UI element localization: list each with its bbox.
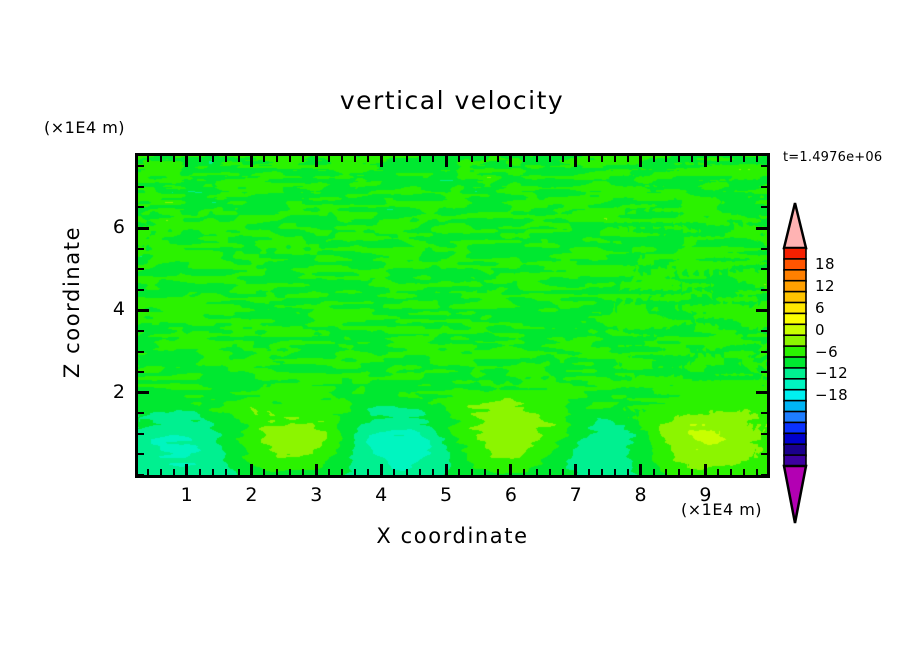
colorbar-band xyxy=(784,346,806,358)
x-tick-minor-top xyxy=(341,156,343,162)
y-tick-minor-right xyxy=(761,351,767,353)
x-tick-label: 6 xyxy=(491,484,531,506)
x-tick-minor xyxy=(588,469,590,475)
x-tick-label: 1 xyxy=(167,484,207,506)
colorbar-svg xyxy=(781,202,809,524)
y-tick-minor-right xyxy=(761,165,767,167)
y-axis-unit-label: (×1E4 m) xyxy=(44,118,125,137)
x-tick-minor xyxy=(173,469,175,475)
y-tick-minor xyxy=(138,433,144,435)
y-tick-minor-right xyxy=(761,186,767,188)
colorbar-band xyxy=(784,248,806,260)
x-tick-major xyxy=(574,464,577,475)
x-tick-minor-top xyxy=(588,156,590,162)
x-tick-minor-top xyxy=(276,156,278,162)
x-tick-minor-top xyxy=(665,156,667,162)
y-tick-minor-right xyxy=(761,412,767,414)
y-tick-label: 6 xyxy=(85,216,125,238)
x-tick-minor-top xyxy=(627,156,629,162)
colorbar-tick-label: 18 xyxy=(815,255,835,273)
x-tick-minor-top xyxy=(497,156,499,162)
x-tick-minor-top xyxy=(484,156,486,162)
x-tick-minor-top xyxy=(717,156,719,162)
x-tick-minor xyxy=(497,469,499,475)
y-tick-minor-right xyxy=(761,289,767,291)
x-tick-minor-top xyxy=(393,156,395,162)
colorbar-band xyxy=(784,422,806,434)
y-tick-minor-right xyxy=(761,371,767,373)
y-tick-minor xyxy=(138,165,144,167)
x-tick-minor-top xyxy=(730,156,732,162)
colorbar xyxy=(781,202,809,524)
x-tick-minor-top xyxy=(263,156,265,162)
y-tick-major-right xyxy=(756,227,767,230)
x-tick-minor xyxy=(393,469,395,475)
colorbar-band xyxy=(784,335,806,347)
x-tick-minor xyxy=(147,469,149,475)
x-tick-label: 3 xyxy=(296,484,336,506)
x-tick-major-top xyxy=(250,156,253,167)
x-tick-minor xyxy=(263,469,265,475)
x-tick-major-top xyxy=(315,156,318,167)
x-tick-minor-top xyxy=(160,156,162,162)
x-tick-major xyxy=(315,464,318,475)
colorbar-band xyxy=(784,259,806,271)
y-tick-minor xyxy=(138,268,144,270)
x-axis-title: X coordinate xyxy=(135,524,770,548)
x-tick-major-top xyxy=(445,156,448,167)
y-tick-minor xyxy=(138,206,144,208)
x-tick-major-top xyxy=(509,156,512,167)
x-tick-major xyxy=(509,464,512,475)
x-tick-minor xyxy=(199,469,201,475)
x-tick-minor-top xyxy=(458,156,460,162)
x-tick-minor xyxy=(238,469,240,475)
y-tick-minor xyxy=(138,248,144,250)
time-annotation: t=1.4976e+06 xyxy=(783,150,882,165)
x-tick-minor xyxy=(276,469,278,475)
x-tick-minor-top xyxy=(238,156,240,162)
x-tick-minor xyxy=(225,469,227,475)
colorbar-band xyxy=(784,292,806,304)
y-tick-minor-right xyxy=(761,268,767,270)
contour-plot-area xyxy=(135,153,770,478)
colorbar-under-cap xyxy=(784,466,806,523)
y-tick-minor xyxy=(138,330,144,332)
x-tick-minor-top xyxy=(406,156,408,162)
x-tick-minor-top xyxy=(536,156,538,162)
x-tick-minor xyxy=(756,469,758,475)
x-tick-minor xyxy=(471,469,473,475)
colorbar-band xyxy=(784,270,806,282)
x-tick-minor-top xyxy=(225,156,227,162)
x-tick-minor-top xyxy=(212,156,214,162)
x-tick-major-top xyxy=(639,156,642,167)
x-tick-major xyxy=(380,464,383,475)
x-tick-minor-top xyxy=(678,156,680,162)
colorbar-band xyxy=(784,379,806,391)
x-tick-minor-top xyxy=(328,156,330,162)
y-tick-minor-right xyxy=(761,330,767,332)
x-tick-major-top xyxy=(574,156,577,167)
y-tick-label: 4 xyxy=(85,298,125,320)
x-tick-minor-top xyxy=(653,156,655,162)
x-tick-minor xyxy=(341,469,343,475)
x-tick-label: 7 xyxy=(556,484,596,506)
x-tick-minor xyxy=(212,469,214,475)
y-tick-major xyxy=(138,227,149,230)
x-tick-minor xyxy=(653,469,655,475)
x-tick-major xyxy=(445,464,448,475)
colorbar-band xyxy=(784,390,806,402)
colorbar-band xyxy=(784,412,806,424)
x-tick-major-top xyxy=(704,156,707,167)
x-tick-minor-top xyxy=(419,156,421,162)
y-tick-minor-right xyxy=(761,453,767,455)
x-tick-minor xyxy=(419,469,421,475)
colorbar-over-cap xyxy=(784,203,806,248)
x-tick-major-top xyxy=(185,156,188,167)
x-tick-minor xyxy=(614,469,616,475)
colorbar-band xyxy=(784,401,806,413)
x-tick-minor xyxy=(458,469,460,475)
y-tick-major xyxy=(138,391,149,394)
colorbar-band xyxy=(784,324,806,336)
x-tick-label: 4 xyxy=(361,484,401,506)
y-tick-major-right xyxy=(756,391,767,394)
x-tick-minor-top xyxy=(471,156,473,162)
colorbar-tick-label: 0 xyxy=(815,321,825,339)
x-tick-minor-top xyxy=(756,156,758,162)
x-tick-minor-top xyxy=(147,156,149,162)
colorbar-tick-label: −18 xyxy=(815,386,848,404)
x-tick-minor xyxy=(367,469,369,475)
colorbar-band xyxy=(784,303,806,315)
y-tick-minor xyxy=(138,474,144,476)
x-tick-minor xyxy=(536,469,538,475)
x-tick-minor xyxy=(432,469,434,475)
x-tick-minor-top xyxy=(173,156,175,162)
colorbar-tick-label: −12 xyxy=(815,364,848,382)
y-tick-minor xyxy=(138,351,144,353)
x-tick-minor xyxy=(627,469,629,475)
x-tick-label: 8 xyxy=(621,484,661,506)
x-tick-minor xyxy=(678,469,680,475)
x-tick-major xyxy=(704,464,707,475)
x-tick-minor xyxy=(691,469,693,475)
x-tick-minor xyxy=(523,469,525,475)
x-tick-minor xyxy=(562,469,564,475)
x-tick-label: 9 xyxy=(685,484,725,506)
x-tick-minor xyxy=(601,469,603,475)
x-tick-minor-top xyxy=(601,156,603,162)
page-title: vertical velocity xyxy=(0,86,904,115)
y-tick-minor-right xyxy=(761,433,767,435)
y-tick-major-right xyxy=(756,309,767,312)
y-tick-major xyxy=(138,309,149,312)
x-tick-minor xyxy=(160,469,162,475)
y-tick-minor-right xyxy=(761,248,767,250)
x-tick-label: 5 xyxy=(426,484,466,506)
x-tick-minor xyxy=(665,469,667,475)
x-tick-minor-top xyxy=(549,156,551,162)
x-tick-major xyxy=(250,464,253,475)
colorbar-band xyxy=(784,368,806,380)
x-tick-minor-top xyxy=(743,156,745,162)
colorbar-band xyxy=(784,357,806,369)
contour-field xyxy=(138,156,767,475)
y-tick-minor xyxy=(138,289,144,291)
x-tick-minor xyxy=(730,469,732,475)
x-tick-minor-top xyxy=(523,156,525,162)
y-tick-label: 2 xyxy=(85,381,125,403)
y-tick-minor xyxy=(138,186,144,188)
x-tick-minor-top xyxy=(562,156,564,162)
y-tick-minor-right xyxy=(761,206,767,208)
x-tick-minor xyxy=(406,469,408,475)
colorbar-band xyxy=(784,444,806,456)
x-tick-minor xyxy=(302,469,304,475)
colorbar-tick-label: 12 xyxy=(815,277,835,295)
x-tick-major xyxy=(185,464,188,475)
y-tick-minor xyxy=(138,371,144,373)
x-tick-major-top xyxy=(380,156,383,167)
x-tick-minor-top xyxy=(432,156,434,162)
colorbar-tick-label: 6 xyxy=(815,299,825,317)
x-tick-minor-top xyxy=(614,156,616,162)
y-tick-minor-right xyxy=(761,474,767,476)
y-tick-minor xyxy=(138,412,144,414)
x-tick-minor-top xyxy=(302,156,304,162)
x-tick-minor-top xyxy=(691,156,693,162)
x-tick-major xyxy=(639,464,642,475)
x-tick-minor-top xyxy=(367,156,369,162)
x-tick-minor xyxy=(743,469,745,475)
colorbar-band xyxy=(784,433,806,445)
x-tick-minor-top xyxy=(354,156,356,162)
colorbar-band xyxy=(784,313,806,325)
x-tick-minor xyxy=(328,469,330,475)
x-tick-minor-top xyxy=(199,156,201,162)
x-tick-minor xyxy=(549,469,551,475)
x-tick-minor-top xyxy=(289,156,291,162)
x-tick-minor xyxy=(717,469,719,475)
y-tick-minor xyxy=(138,453,144,455)
x-tick-minor xyxy=(354,469,356,475)
z-axis-title: Z coordinate xyxy=(60,212,84,392)
colorbar-band xyxy=(784,281,806,293)
colorbar-tick-label: −6 xyxy=(815,343,838,361)
x-tick-minor xyxy=(289,469,291,475)
x-tick-label: 2 xyxy=(231,484,271,506)
x-tick-minor xyxy=(484,469,486,475)
